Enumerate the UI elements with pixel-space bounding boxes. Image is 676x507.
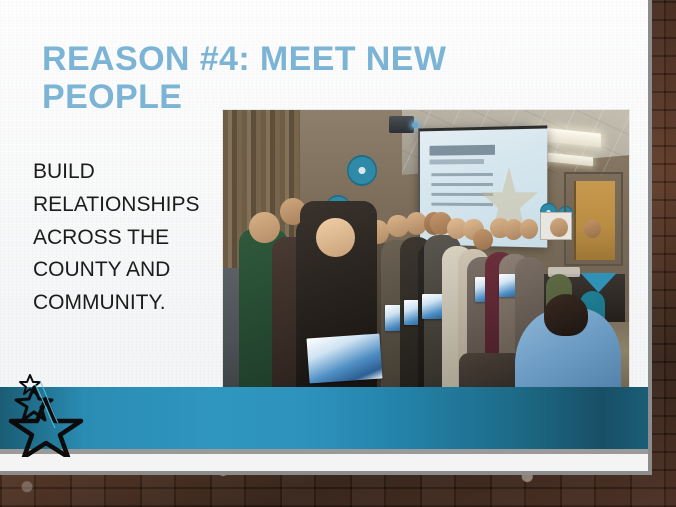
- screen-heading-text: [430, 144, 537, 156]
- three-stars-logo: [6, 373, 92, 457]
- screen-subheading: [430, 159, 485, 164]
- certificate-foreground: [307, 334, 383, 384]
- slide-backdrop: Reason #4: Meet New People Build relatio…: [0, 0, 676, 507]
- person-head: [316, 218, 355, 258]
- person-head: [544, 294, 589, 336]
- presentation-slide: Reason #4: Meet New People Build relatio…: [0, 0, 652, 475]
- projector-icon: [389, 116, 413, 133]
- group-photo: [223, 110, 629, 393]
- slide-body-text: Build relationships across the county an…: [33, 156, 223, 320]
- person-head: [550, 218, 568, 237]
- person-head: [249, 212, 279, 243]
- photo-frame: [223, 110, 629, 393]
- footer-band: [0, 387, 648, 449]
- page-title: Reason #4: Meet New People: [42, 40, 512, 116]
